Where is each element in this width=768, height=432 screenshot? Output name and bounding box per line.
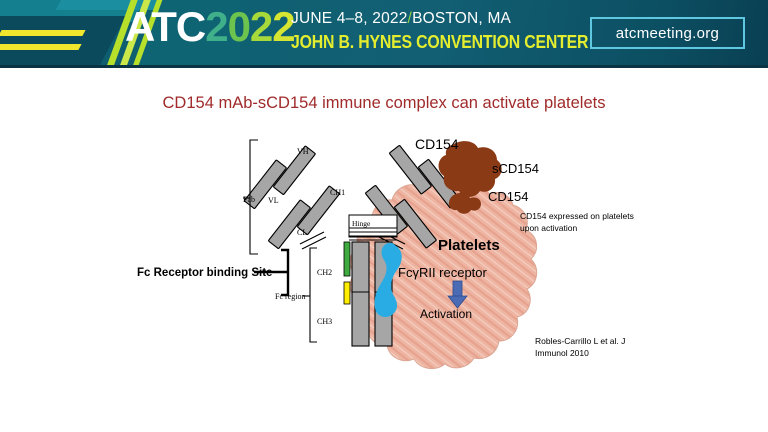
atc-wordmark: ATC2022	[125, 6, 295, 48]
label-fcgamma-rii-receptor: FcγRII receptor	[398, 265, 487, 280]
atc-wordmark-atc: ATC	[125, 3, 205, 50]
banner-city: BOSTON, MA	[412, 10, 511, 27]
diagram-vector-graphics	[0, 120, 768, 432]
label-cd154-top: CD154	[415, 136, 459, 152]
atc-wordmark-digit-3: 2	[250, 3, 272, 50]
atcmeeting-url-box[interactable]: atcmeeting.org	[590, 17, 745, 49]
label-cd154-platelet: CD154	[488, 189, 528, 204]
immune-complex-diagram: Fab VH VL CH1 CL Hinge CH2 CH3 Fc region…	[0, 120, 768, 432]
atc-wordmark-digit-2: 0	[228, 3, 250, 50]
label-activation: Activation	[420, 307, 472, 321]
fc-green-marker	[344, 242, 350, 276]
label-ch3: CH3	[317, 317, 332, 326]
atcmeeting-url-label: atcmeeting.org	[616, 25, 719, 42]
banner-venue: JOHN B. HYNES CONVENTION CENTER	[291, 32, 588, 53]
conference-banner: ATC2022 JUNE 4–8, 2022/BOSTON, MA JOHN B…	[0, 0, 768, 68]
label-scd154: sCD154	[492, 161, 539, 176]
label-hinge: Hinge	[352, 219, 370, 228]
fc-yellow-marker	[344, 282, 350, 304]
banner-dates: JUNE 4–8, 2022	[291, 10, 408, 27]
label-fc-receptor-binding-site: Fc Receptor binding Site	[137, 267, 272, 279]
atc-wordmark-digit-1: 2	[205, 3, 227, 50]
label-ch2: CH2	[317, 268, 332, 277]
label-fab: Fab	[243, 195, 255, 204]
label-vl: VL	[268, 196, 279, 205]
label-vh: VH	[297, 147, 309, 156]
banner-date-location: JUNE 4–8, 2022/BOSTON, MA	[291, 10, 511, 28]
label-platelets: Platelets	[438, 237, 500, 254]
label-fc-region: Fc region	[275, 292, 305, 301]
citation-text: Robles-Carrillo L et al. J Immunol 2010	[535, 335, 655, 359]
label-ch1: CH1	[330, 188, 345, 197]
banner-bottom-rule	[0, 65, 768, 68]
label-cl: CL	[297, 228, 307, 237]
label-expression-note: CD154 expressed on platelets upon activa…	[520, 210, 645, 234]
page-title: CD154 mAb-sCD154 immune complex can acti…	[0, 94, 768, 113]
